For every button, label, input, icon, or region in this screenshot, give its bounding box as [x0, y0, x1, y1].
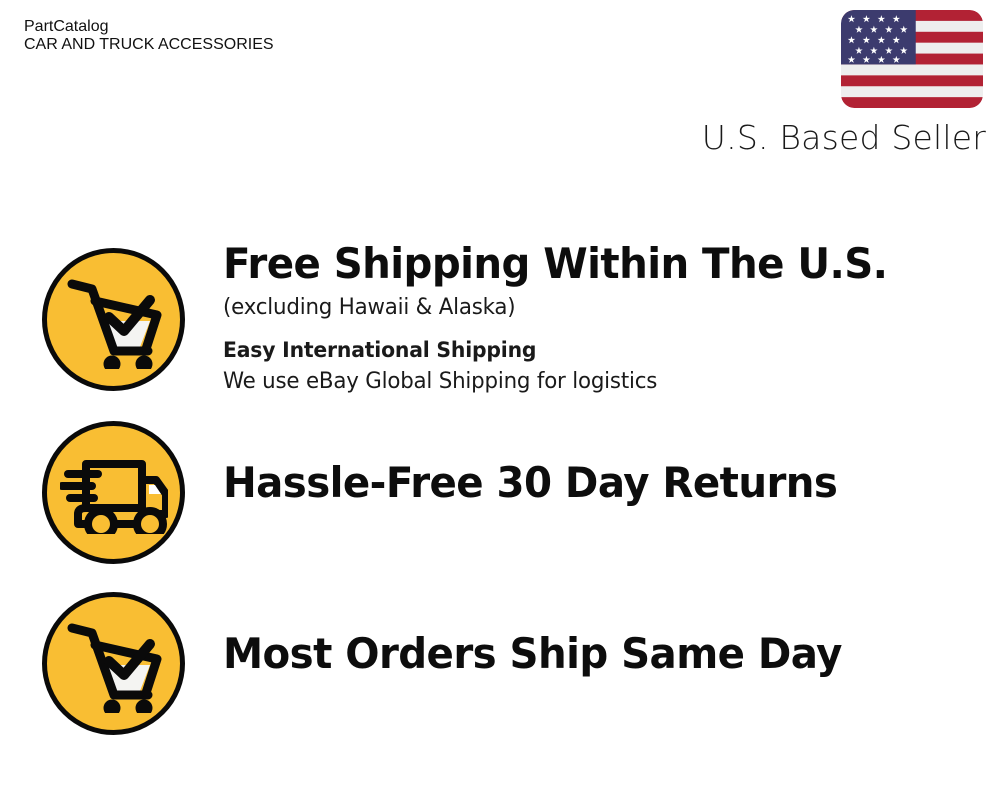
brand-tagline: CAR AND TRUCK ACCESSORIES: [24, 36, 494, 54]
feature-subline: We use eBay Global Shipping for logistic…: [223, 366, 956, 398]
feature-text-block: Most Orders Ship Same Day: [223, 629, 979, 679]
feature-headline: Hassle-Free 30 Day Returns: [223, 458, 949, 508]
feature-row: Most Orders Ship Same Day: [42, 592, 982, 742]
feature-row: Free Shipping Within The U.S. (excluding…: [42, 248, 982, 398]
us-based-seller-label: U.S. Based Seller: [702, 118, 986, 158]
feature-headline: Most Orders Ship Same Day: [223, 629, 949, 679]
feature-subline: Easy International Shipping: [223, 334, 956, 366]
us-flag-icon: [841, 10, 983, 108]
feature-text-block: Free Shipping Within The U.S. (excluding…: [223, 239, 979, 398]
brand-logo[interactable]: PartCatalog CAR AND TRUCK ACCESSORIES: [24, 18, 494, 118]
feature-headline: Free Shipping Within The U.S.: [223, 239, 949, 289]
feature-text-block: Hassle-Free 30 Day Returns: [223, 458, 979, 508]
feature-subline: (excluding Hawaii & Alaska): [223, 292, 956, 324]
feature-row: Hassle-Free 30 Day Returns: [42, 421, 982, 571]
us-based-seller-badge: U.S. Based Seller: [716, 8, 986, 158]
shopping-cart-check-icon: [42, 248, 185, 391]
brand-wordmark: PartCatalog: [24, 18, 494, 36]
delivery-truck-icon: [42, 421, 185, 564]
shopping-cart-check-icon: [42, 592, 185, 735]
